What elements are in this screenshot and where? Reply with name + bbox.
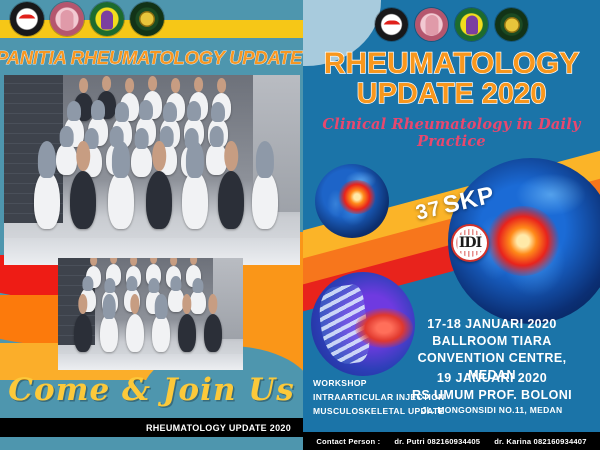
event-1-venue-line-1: BALLROOM TIARA — [392, 333, 592, 350]
poster-subtitle: Clinical Rheumatology in Daily Practice — [303, 116, 600, 150]
left-footer-bar: RHEUMATOLOGY UPDATE 2020 — [0, 418, 303, 437]
workshop-heading: WORKSHOP — [313, 376, 445, 390]
photo-people — [4, 75, 300, 265]
knee-pain-glow — [486, 206, 560, 276]
idi-accreditation-badge: IDI — [451, 224, 489, 262]
workshop-item-1: INTRAARTICULAR INJECTION — [313, 390, 445, 404]
rheumatology-association-logo — [50, 2, 84, 36]
event-poster: PANITIA RHEUMATOLOGY UPDATE 2020 — [0, 0, 600, 450]
workshop-section: WORKSHOP INTRAARTICULAR INJECTION MUSCUL… — [313, 376, 445, 418]
right-logo-row — [375, 8, 528, 41]
rheumatology-association-logo — [415, 8, 448, 41]
left-logo-row — [10, 2, 164, 36]
contact-person-2: dr. Karina 082160934407 — [494, 437, 586, 446]
call-to-action: Come & Join Us — [0, 372, 303, 408]
team-casual-photo — [58, 258, 243, 370]
hospital-logo — [495, 8, 528, 41]
hospital-logo — [130, 2, 164, 36]
idi-logo — [10, 2, 44, 36]
contact-label: Contact Person : — [316, 437, 380, 446]
workshop-item-2: MUSCULOSKELETAL UPDATE — [313, 404, 445, 418]
shoulder-pain-illustration — [315, 164, 389, 238]
medical-faculty-logo — [455, 8, 488, 41]
left-panel: PANITIA RHEUMATOLOGY UPDATE 2020 — [0, 0, 303, 450]
title-line-2: UPDATE 2020 — [303, 79, 600, 109]
poster-title: RHEUMATOLOGY UPDATE 2020 — [303, 48, 600, 109]
title-line-1: RHEUMATOLOGY — [303, 48, 600, 79]
event-1-date: 17-18 JANUARI 2020 — [392, 316, 592, 333]
contact-person-1: dr. Putri 082160934405 — [394, 437, 480, 446]
idi-badge-text: IDI — [458, 235, 482, 251]
shoulder-pain-glow — [337, 180, 377, 214]
committee-group-photo — [4, 75, 300, 265]
photo-people-2 — [58, 258, 243, 370]
left-headline: PANITIA RHEUMATOLOGY UPDATE 2020 — [0, 47, 303, 69]
medical-faculty-logo — [90, 2, 124, 36]
left-bottom-strip — [0, 437, 303, 450]
left-footer-text: RHEUMATOLOGY UPDATE 2020 — [146, 423, 291, 433]
idi-logo — [375, 8, 408, 41]
contact-bar: Contact Person : dr. Putri 082160934405 … — [303, 432, 600, 450]
right-panel: RHEUMATOLOGY UPDATE 2020 Clinical Rheuma… — [303, 0, 600, 450]
skp-number: 37 — [414, 197, 444, 225]
